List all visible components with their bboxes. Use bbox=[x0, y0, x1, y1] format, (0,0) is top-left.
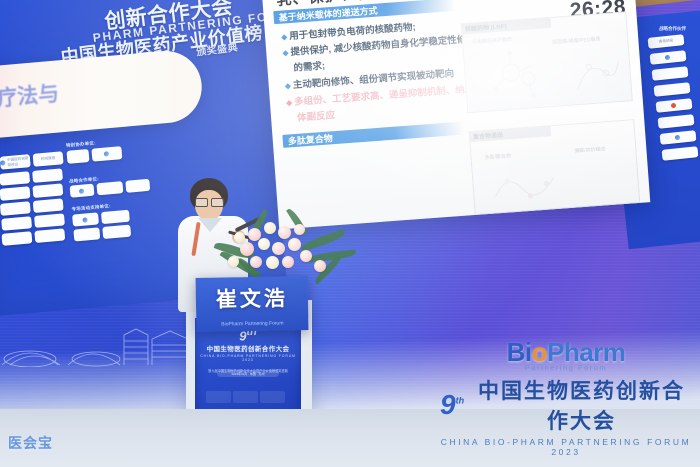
sponsor-logo-card: 药明康德 bbox=[33, 151, 64, 167]
sponsor-logo-card bbox=[1, 216, 32, 231]
sponsor-logo-card bbox=[33, 198, 64, 213]
banner-plate-text: 疗法与 bbox=[0, 77, 60, 112]
nameplate-logo: BioPharm Partnering Forum bbox=[196, 320, 308, 328]
slide-bullet-faded: 体副反应 bbox=[297, 107, 336, 124]
slide-section-2-label: 多肽复合物 bbox=[282, 131, 333, 148]
sponsor-logo-card bbox=[73, 227, 100, 241]
brand-ordinal: 9th bbox=[440, 394, 464, 416]
sponsor-logo-card bbox=[32, 183, 63, 198]
sponsor-logo-card bbox=[0, 201, 31, 216]
podium-date-pill: 2023年11月 · 中国 · 苏州 bbox=[217, 370, 279, 377]
sponsor-logo-card bbox=[96, 181, 123, 195]
conference-photo: 创新合作大会 PHARM PARTNERING FORUM 2023 中国生物医… bbox=[0, 0, 700, 467]
sponsor-logo-card bbox=[125, 179, 150, 193]
right-panel-heading: 战略合作伙伴 bbox=[659, 26, 686, 32]
molecule-diagram-secondary bbox=[567, 50, 626, 100]
partnering-forum-label: Partnering Forum bbox=[440, 363, 692, 372]
presentation-screen: 乳、保护、靶向、提高摄取与逃逸 基于纳米载体的递送方式 ◆用于包封带负电荷的核酸… bbox=[262, 0, 650, 229]
watermark: 医会宝 bbox=[8, 433, 53, 453]
conference-branding: BioPharm Partnering Forum 9th 中国生物医药创新合作… bbox=[440, 337, 692, 457]
sponsor-logo-card bbox=[66, 149, 89, 164]
sponsor-logo-card bbox=[72, 212, 99, 226]
sponsor-logo-card bbox=[34, 228, 65, 243]
brand-title-en: CHINA BIO-PHARM PARTNERING FORUM 2023 bbox=[440, 437, 692, 457]
sponsor-heading: 特别协办单位: bbox=[66, 140, 96, 149]
sponsor-logo-card bbox=[1, 231, 32, 246]
sponsor-logo-card bbox=[70, 184, 95, 198]
speaker-name: 崔文浩 bbox=[196, 282, 309, 314]
slide-bullet: 的需求; bbox=[293, 58, 326, 74]
sponsor-logo-card bbox=[102, 225, 131, 239]
slide-section-2-bar: 多肽复合物 bbox=[282, 122, 464, 148]
glasses-icon bbox=[195, 198, 223, 205]
sponsor-logo-card bbox=[0, 186, 30, 201]
speaker-nameplate: 崔文浩 BioPharm Partnering Forum bbox=[196, 276, 309, 332]
podium-title-cn: 中国生物医药创新合作大会 bbox=[195, 343, 301, 353]
molecule-diagram bbox=[479, 46, 563, 108]
skyline-graphic bbox=[0, 321, 200, 367]
sponsor-logo-card bbox=[101, 210, 130, 224]
peptide-diagram bbox=[487, 158, 574, 210]
sponsor-logo-card bbox=[34, 213, 65, 228]
sponsor-logo-card: 中国医药创新促进会 bbox=[0, 154, 31, 170]
podium-title-en: CHINA BIO-PHARM PARTNERING FORUM 2023 bbox=[195, 354, 301, 362]
brand-title-cn: 中国生物医药创新合作大会 bbox=[471, 375, 692, 435]
sponsor-logo-card bbox=[0, 171, 30, 186]
sponsor-logo-card bbox=[91, 146, 122, 162]
podium-logo: 9th 中国生物医药创新合作大会 CHINA BIO-PHARM PARTNER… bbox=[195, 326, 301, 373]
sponsor-logo-card bbox=[32, 168, 63, 183]
